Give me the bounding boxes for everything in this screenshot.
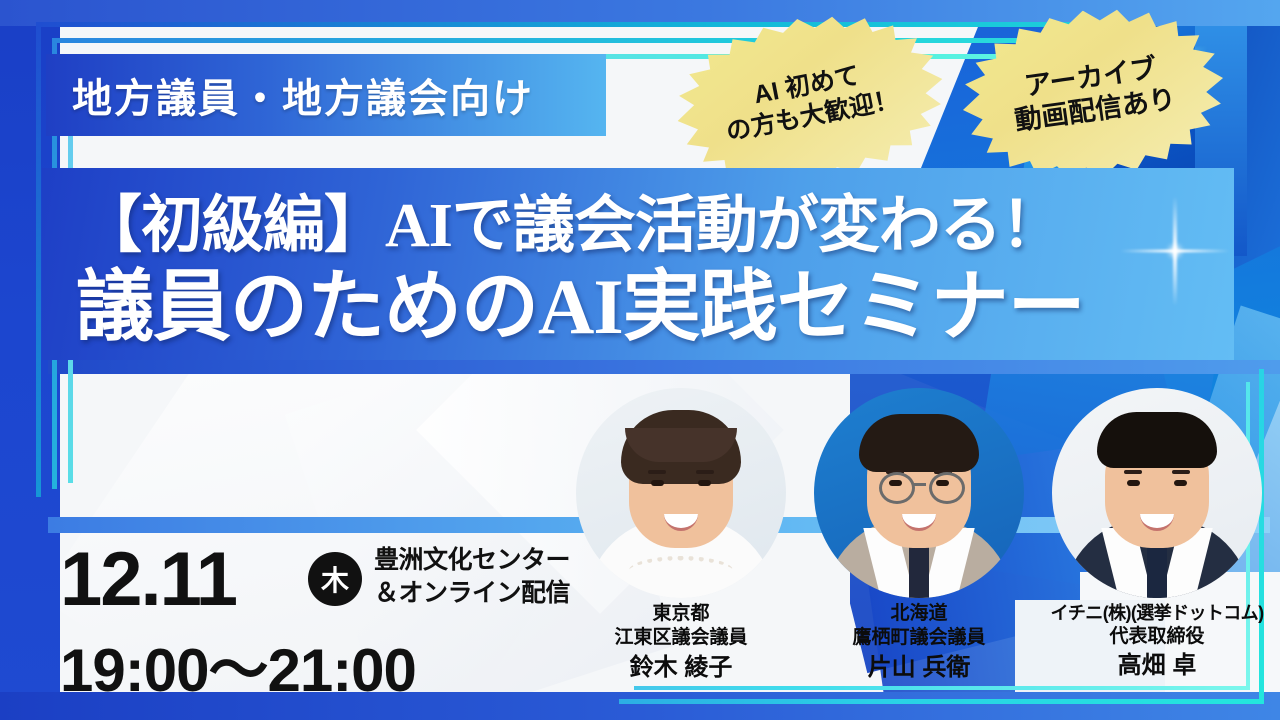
poster-canvas: 地方議員・地方議会向け AI 初めて の方も大歓迎！ アーカイブ 動画配信あり … <box>0 0 1280 720</box>
speaker-caption: 北海道 鷹栖町議会議員 片山 兵衛 <box>804 602 1034 684</box>
speaker-card: 北海道 鷹栖町議会議員 片山 兵衛 <box>804 388 1034 718</box>
speaker-photo-suzuki <box>576 388 786 598</box>
speaker-caption: イチニ(株)(選挙ドットコム) 代表取締役 高畑 卓 <box>1042 602 1272 683</box>
weekday-badge: 木 <box>308 552 362 606</box>
speaker-card: イチニ(株)(選挙ドットコム) 代表取締役 高畑 卓 <box>1042 388 1272 718</box>
speaker-role: 代表取締役 <box>1042 625 1272 649</box>
main-title-banner: 【初級編】AIで議会活動が変わる！ 議員のためのAI実践セミナー <box>42 168 1234 360</box>
archive-video-badge-text: アーカイブ 動画配信あり <box>1008 50 1178 138</box>
speaker-photo-takahata <box>1052 388 1262 598</box>
event-date: 12.11 <box>60 536 236 623</box>
speaker-photo-katayama <box>814 388 1024 598</box>
speaker-region: 東京都 <box>566 602 796 626</box>
speaker-name: 片山 兵衛 <box>804 652 1034 684</box>
ai-beginner-badge-text: AI 初めて の方も大歓迎！ <box>718 53 901 146</box>
kicker-text: 地方議員・地方議会向け <box>46 66 534 124</box>
speaker-region: イチニ(株)(選挙ドットコム) <box>1042 602 1272 625</box>
audience-kicker-banner: 地方議員・地方議会向け <box>46 54 606 136</box>
speaker-role: 鷹栖町議会議員 <box>804 626 1034 650</box>
speaker-caption: 東京都 江東区議会議員 鈴木 綾子 <box>566 602 796 684</box>
venue-text: 豊洲文化センター ＆オンライン配信 <box>374 544 570 609</box>
speaker-role: 江東区議会議員 <box>566 626 796 650</box>
speaker-card: 東京都 江東区議会議員 鈴木 綾子 <box>566 388 796 718</box>
speaker-region: 北海道 <box>804 602 1034 626</box>
schedule-block: 12.11 木 豊洲文化センター ＆オンライン配信 19:00〜21:00 <box>52 540 572 700</box>
speakers-row: 東京都 江東区議会議員 鈴木 綾子 <box>566 388 1272 718</box>
speaker-name: 高畑 卓 <box>1042 650 1272 682</box>
speaker-name: 鈴木 綾子 <box>566 652 796 684</box>
title-line-2: 議員のためのAI実践セミナー <box>76 244 1085 356</box>
event-time: 19:00〜21:00 <box>60 622 416 709</box>
